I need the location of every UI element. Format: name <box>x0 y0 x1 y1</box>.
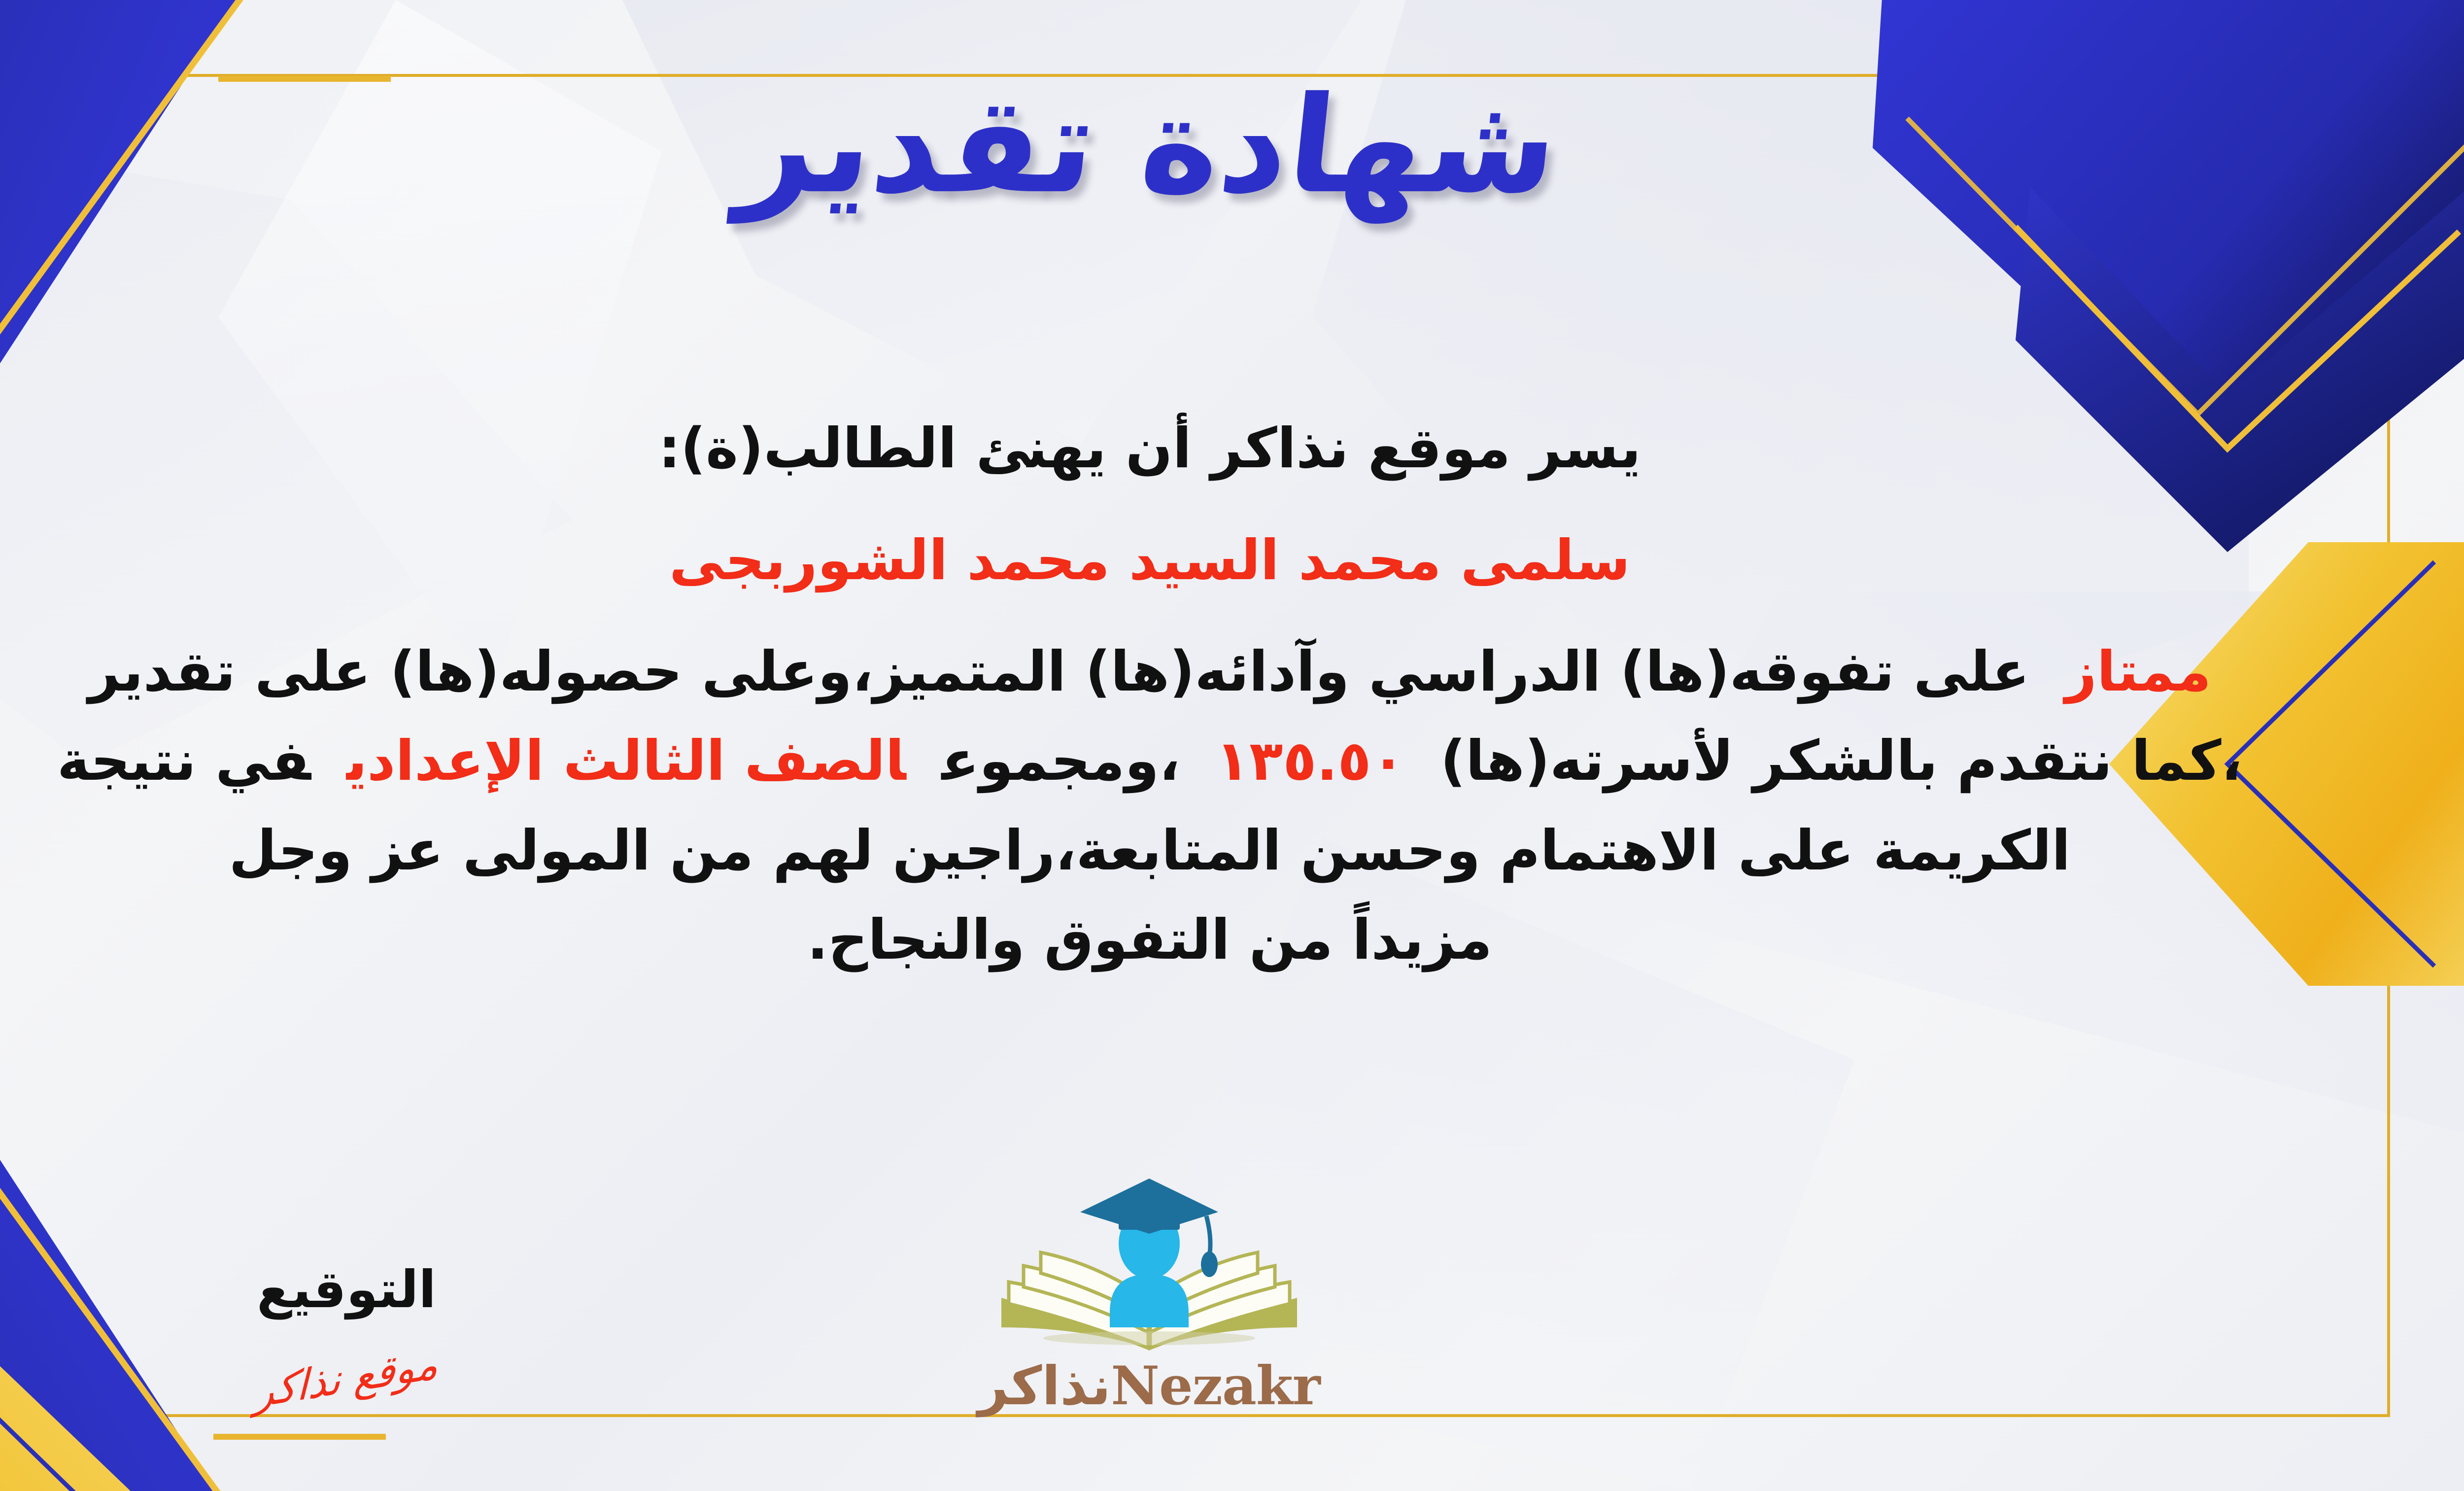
body-line-3: الكريمة على الاهتمام وحسن المتابعة،راجين… <box>0 806 2327 896</box>
signature-label: التوقيع <box>208 1259 484 1319</box>
body-line-1-text: على تفوقه(ها) الدراسي وآدائه(ها) المتميز… <box>88 640 2030 704</box>
corner-ornament-gold-bottom-left <box>0 1274 233 1491</box>
body-line-2-text-c: ،كما نتقدم بالشكر لأسرته(ها) <box>1440 729 2242 793</box>
certificate-title-block: شهادة تقدير <box>0 69 2464 222</box>
grade-value: ممتاز <box>2065 640 2211 704</box>
body-line-1: ممتازعلى تفوقه(ها) الدراسي وآدائه(ها) ال… <box>0 627 2327 717</box>
certificate-body: يسر موقع نذاكر أن يهنئ الطالب(ة): سلمى م… <box>0 404 2327 985</box>
student-name: سلمى محمد السيد محمد الشوربجى <box>0 516 2327 605</box>
body-line-4: مزيداً من التفوق والنجاح. <box>0 896 2327 985</box>
total-score-value: ١٣٥.٥٠ <box>1216 729 1405 793</box>
certificate-page: شهادة تقدير يسر موقع نذاكر أن يهنئ الطال… <box>0 0 2464 1491</box>
signature-block: التوقيع موقع نذاكر <box>208 1259 484 1402</box>
body-line-2-text-b: ،ومجموع <box>942 729 1180 793</box>
page-title: شهادة تقدير <box>732 69 1566 222</box>
intro-line: يسر موقع نذاكر أن يهنئ الطالب(ة): <box>0 404 2327 493</box>
signature-script: موقع نذاكر <box>254 1339 439 1417</box>
class-value: الصف الثالث الإعدادي <box>346 729 906 793</box>
body-line-2-text-a: في نتيجة <box>57 729 311 793</box>
logo-latin-text: Nezakr <box>1111 1355 1320 1417</box>
logo-arabic-text: نذاكر <box>978 1355 1111 1417</box>
logo-wordmark: Nezakrنذاكر <box>962 1355 1336 1417</box>
body-line-2: ،كما نتقدم بالشكر لأسرته(ها)١٣٥.٥٠،ومجمو… <box>0 717 2327 806</box>
site-logo: Nezakrنذاكر <box>962 1165 1336 1417</box>
graduate-book-icon <box>962 1165 1336 1362</box>
